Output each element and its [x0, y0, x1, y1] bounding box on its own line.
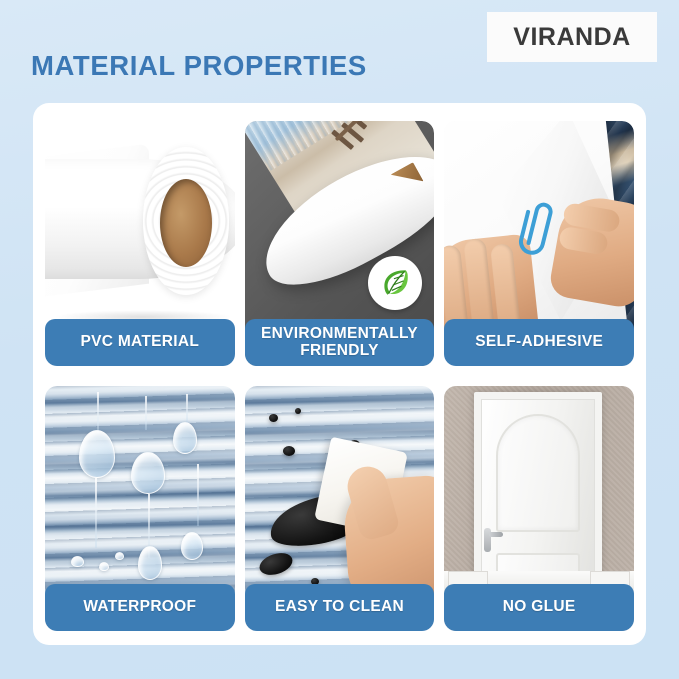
feature-card-easy-to-clean[interactable]: EASY TO CLEAN [245, 386, 435, 631]
stain-speck [269, 414, 278, 422]
water-droplet [71, 556, 84, 567]
feature-label-text: ENVIRONMENTALLYFRIENDLY [253, 326, 426, 359]
door-panel-upper [496, 414, 580, 532]
water-droplet [115, 552, 124, 560]
water-droplet [131, 452, 165, 494]
feature-card-no-glue[interactable]: NO GLUE [444, 386, 634, 631]
droplet-trail [186, 394, 188, 422]
water-droplet [79, 430, 115, 478]
droplet-trail [97, 392, 99, 434]
header: MATERIAL PROPERTIES VIRANDA [0, 0, 679, 100]
feature-label-easy-to-clean: EASY TO CLEAN [245, 584, 435, 631]
feature-label-text: SELF-ADHESIVE [471, 334, 607, 351]
features-panel: PVC MATERIAL [33, 103, 646, 645]
leaf-icon [378, 266, 412, 300]
feature-card-self-adhesive[interactable]: SELF-ADHESIVE [444, 121, 634, 366]
water-droplet [99, 562, 109, 571]
stain-speck [295, 408, 301, 414]
eco-leaf-badge [368, 256, 422, 310]
pier-posts [329, 121, 382, 154]
feature-label-self-adhesive: SELF-ADHESIVE [444, 319, 634, 366]
feature-label-no-glue: NO GLUE [444, 584, 634, 631]
door-leaf [481, 399, 595, 578]
water-droplet [138, 546, 162, 580]
water-droplet [181, 532, 203, 560]
feature-card-pvc-material[interactable]: PVC MATERIAL [45, 121, 235, 366]
roll-cardboard-core [160, 179, 212, 267]
droplet-trail [145, 396, 147, 430]
brand-logo: VIRANDA [487, 12, 657, 62]
feature-label-pvc-material: PVC MATERIAL [45, 319, 235, 366]
feature-label-text: WATERPROOF [79, 599, 200, 616]
brand-name: VIRANDA [513, 23, 630, 52]
droplet-trail [95, 478, 97, 548]
droplet-trail [197, 464, 199, 526]
water-droplet [173, 422, 197, 454]
page-title: MATERIAL PROPERTIES [31, 50, 367, 82]
door-handle [484, 528, 491, 552]
features-grid: PVC MATERIAL [45, 121, 634, 631]
feature-label-waterproof: WATERPROOF [45, 584, 235, 631]
feature-card-waterproof[interactable]: WATERPROOF [45, 386, 235, 631]
feature-label-text: PVC MATERIAL [76, 334, 203, 351]
feature-label-text: EASY TO CLEAN [271, 599, 408, 616]
feature-label-text: NO GLUE [499, 599, 580, 616]
feature-label-environmentally-friendly: ENVIRONMENTALLYFRIENDLY [245, 319, 435, 366]
stain-speck [283, 446, 295, 456]
door-frame [474, 392, 602, 578]
feature-card-environmentally-friendly[interactable]: ENVIRONMENTALLYFRIENDLY [245, 121, 435, 366]
